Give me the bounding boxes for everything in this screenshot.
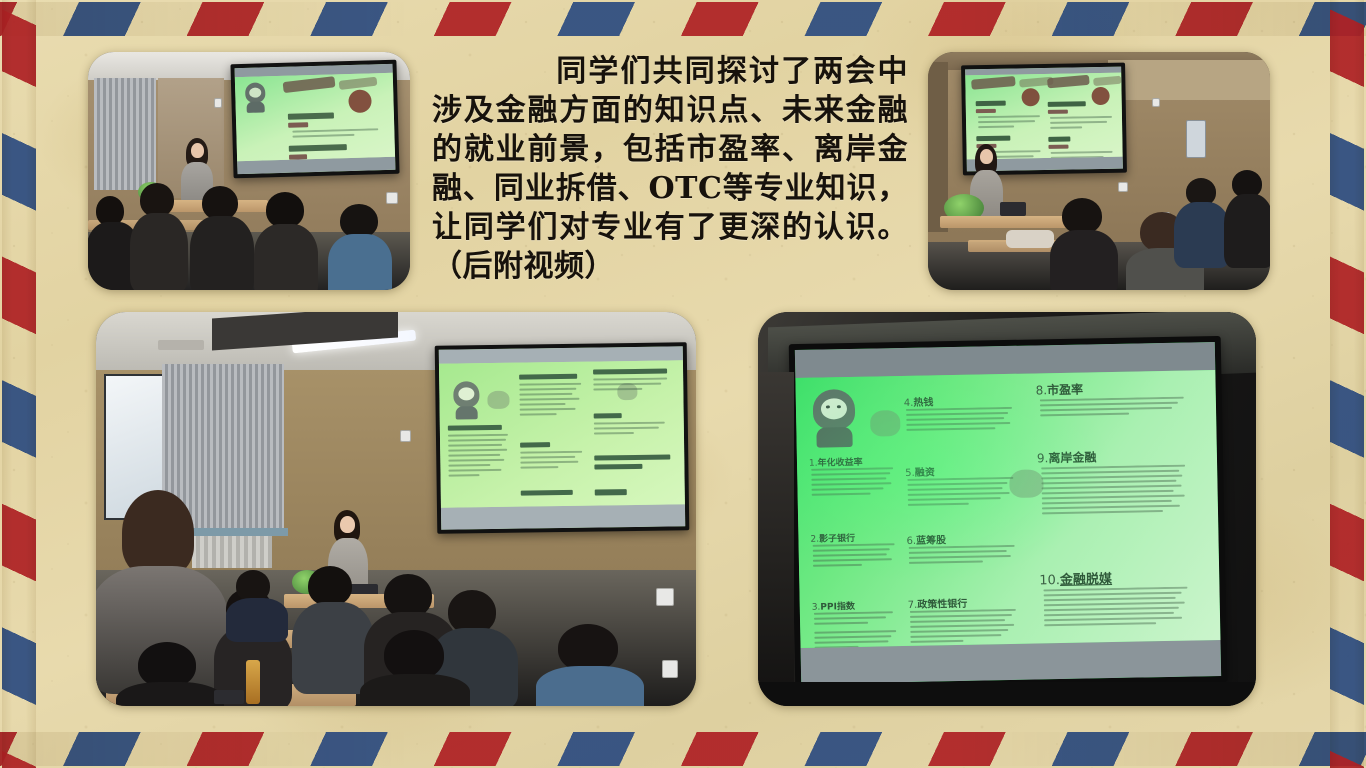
term-4-number: 4. — [904, 398, 914, 409]
term-5-number: 5. — [905, 468, 915, 479]
term-6-number: 6. — [906, 536, 916, 547]
slide-heading-2 — [289, 144, 347, 152]
photo-top-right-content — [928, 52, 1270, 290]
wall-switch — [400, 430, 411, 442]
audience-member — [192, 186, 252, 290]
wall-control-panel — [1186, 120, 1206, 158]
slide-tag-4 — [1048, 145, 1068, 149]
term-8-body — [1040, 397, 1185, 438]
term-9-title: 离岸金融 — [1048, 450, 1096, 465]
room-left-dark — [758, 372, 794, 692]
avatar-icon — [451, 381, 482, 419]
room-bottom-dark — [758, 682, 1256, 706]
ceiling-vent — [158, 340, 204, 350]
term-6-title: 蓝筹股 — [916, 535, 946, 547]
audience-member — [360, 630, 468, 706]
term-1-body — [811, 467, 894, 517]
laptop — [1000, 202, 1026, 216]
projection-screen: 1.年化收益率 2.影子银行 3.PPI指数 — [795, 342, 1221, 684]
term-4-body — [906, 407, 1013, 453]
slide-body-12 — [519, 383, 582, 436]
term-7-number: 7. — [908, 600, 918, 611]
term-9-number: 9. — [1037, 451, 1049, 465]
border-stripes-bottom — [0, 732, 1366, 766]
projection-screen-frame — [230, 60, 399, 179]
photo-bottom-left — [96, 312, 696, 706]
term-10-number: 10. — [1039, 573, 1060, 588]
term-2-number: 2. — [810, 535, 819, 545]
slide-tag-1 — [288, 122, 308, 128]
border-left — [2, 0, 36, 768]
wall-switch — [1152, 98, 1160, 107]
term-7-heading: 7.政策性银行 — [908, 595, 968, 611]
term-8-number: 8. — [1036, 383, 1048, 397]
term-4-title: 热钱 — [913, 397, 933, 408]
term-5-title: 融资 — [915, 467, 935, 478]
projection-screen — [439, 346, 685, 529]
slide-tag-1 — [976, 109, 996, 113]
slide-seal-left — [1021, 88, 1039, 106]
wall-switch — [214, 98, 222, 108]
wall-outlet — [386, 192, 398, 204]
border-stripes-top — [0, 2, 1366, 36]
drink-bottle — [246, 660, 260, 704]
projection-screen-frame: 1.年化收益率 2.影子银行 3.PPI指数 — [789, 336, 1228, 690]
term-6-body — [909, 545, 1016, 587]
slide-subtitle-chip — [339, 77, 378, 90]
slide-heading-15 — [593, 369, 667, 375]
border-bottom — [0, 732, 1366, 766]
term-1-heading: 1.年化收益率 — [809, 455, 863, 469]
term-1-number: 1. — [809, 459, 818, 469]
slide-heading-17b — [594, 464, 642, 470]
term-2-title: 影子银行 — [819, 534, 855, 545]
jacket-on-desk — [1006, 230, 1054, 248]
term-6-heading: 6.蓝筹股 — [906, 531, 946, 547]
border-right — [1330, 0, 1364, 768]
slide-title-chip — [283, 76, 336, 93]
slide-seal-right — [1091, 87, 1109, 105]
term-5-body — [907, 477, 1014, 525]
term-3-heading: 3.PPI指数 — [812, 599, 855, 613]
term-4-heading: 4.热钱 — [904, 393, 934, 409]
slide-heading-14 — [521, 490, 573, 496]
ceiling-panel — [1108, 60, 1270, 100]
slide-heading-16 — [594, 413, 622, 418]
audience-member — [326, 204, 392, 290]
audience-member — [1050, 198, 1116, 290]
photo-top-left-content — [88, 52, 410, 290]
photo-top-left — [88, 52, 410, 290]
term-7-body — [910, 609, 1017, 648]
slide-body-3 — [1050, 116, 1112, 133]
audience-member — [1174, 178, 1228, 266]
audience-member — [130, 183, 186, 290]
slide-body-1 — [978, 115, 1040, 132]
slide-seal — [348, 89, 372, 113]
slide-title-chip-left — [971, 76, 1016, 90]
curtain — [94, 78, 156, 190]
slide-heading-1 — [976, 101, 1006, 107]
wall-outlet — [656, 588, 674, 606]
audience-member — [254, 192, 316, 290]
caption-text: 同学们共同探讨了两会中涉及金融方面的知识点、未来金融的就业前景，包括市盈率、离岸… — [432, 52, 908, 286]
border-stripes-left — [2, 0, 36, 768]
term-8-title: 市盈率 — [1047, 383, 1083, 398]
slide-body-13 — [520, 451, 582, 486]
piggy-icon — [487, 391, 509, 409]
screen-content: 1.年化收益率 2.影子银行 3.PPI指数 — [795, 370, 1220, 648]
photo-bottom-left-content — [96, 312, 696, 706]
audience-member — [226, 570, 288, 638]
slide-heading-2 — [976, 136, 1010, 142]
slide-tag-3 — [1048, 110, 1068, 114]
slide-body-11 — [448, 434, 509, 493]
audience-member — [1224, 170, 1270, 266]
audience-member — [536, 624, 642, 706]
screen-bottom-band — [441, 504, 685, 529]
photo-bottom-right-content: 1.年化收益率 2.影子银行 3.PPI指数 — [758, 312, 1256, 706]
slide-heading-13 — [520, 442, 550, 447]
slide-subtitle-chip-right — [1093, 76, 1122, 86]
screen-content — [439, 360, 685, 507]
slide-heading-1 — [288, 112, 334, 119]
term-3-number: 3. — [812, 603, 821, 613]
term-5-heading: 5.融资 — [905, 463, 935, 479]
slide-heading-12 — [519, 374, 577, 380]
term-3-body — [814, 611, 897, 648]
slide-tag-2 — [289, 154, 307, 160]
slide-heading-3 — [1048, 101, 1086, 107]
projection-screen-frame — [435, 342, 690, 534]
slide-heading-17a — [594, 454, 670, 460]
avatar-icon — [243, 82, 268, 113]
wall-outlet — [662, 660, 678, 678]
slide-heading-11 — [448, 425, 502, 431]
term-8-heading: 8.市盈率 — [1035, 381, 1083, 399]
term-3-title: PPI指数 — [820, 602, 855, 613]
slide-heading-18 — [595, 489, 627, 495]
phone — [214, 690, 244, 704]
term-10-title: 金融脱媒 — [1060, 572, 1112, 588]
term-2-heading: 2.影子银行 — [810, 531, 855, 545]
term-10-heading: 10.金融脱媒 — [1039, 568, 1112, 588]
photo-top-right — [928, 52, 1270, 290]
term-9-heading: 9.离岸金融 — [1037, 448, 1097, 466]
slide-body-16 — [594, 422, 668, 449]
slide-body-15 — [593, 378, 667, 405]
projection-screen — [235, 64, 396, 174]
wall-outlet — [1118, 182, 1128, 192]
audience-member — [116, 642, 222, 706]
term-10-body — [1043, 587, 1188, 648]
piggy-icon — [870, 410, 900, 437]
piggy-icon — [1009, 469, 1044, 498]
slide-canvas: 1.年化收益率 2.影子银行 3.PPI指数 — [0, 0, 1366, 768]
photo-bottom-right: 1.年化收益率 2.影子银行 3.PPI指数 — [758, 312, 1256, 706]
slide-heading-4 — [1048, 137, 1070, 142]
term-9-body — [1041, 465, 1187, 554]
avatar-icon — [810, 389, 859, 448]
slide-body-1 — [292, 128, 378, 142]
slide-title-chip-right — [1047, 75, 1090, 89]
screen-content — [235, 73, 395, 161]
term-2-body — [813, 543, 896, 589]
border-stripes-right — [1330, 0, 1364, 768]
border-top — [0, 2, 1366, 36]
